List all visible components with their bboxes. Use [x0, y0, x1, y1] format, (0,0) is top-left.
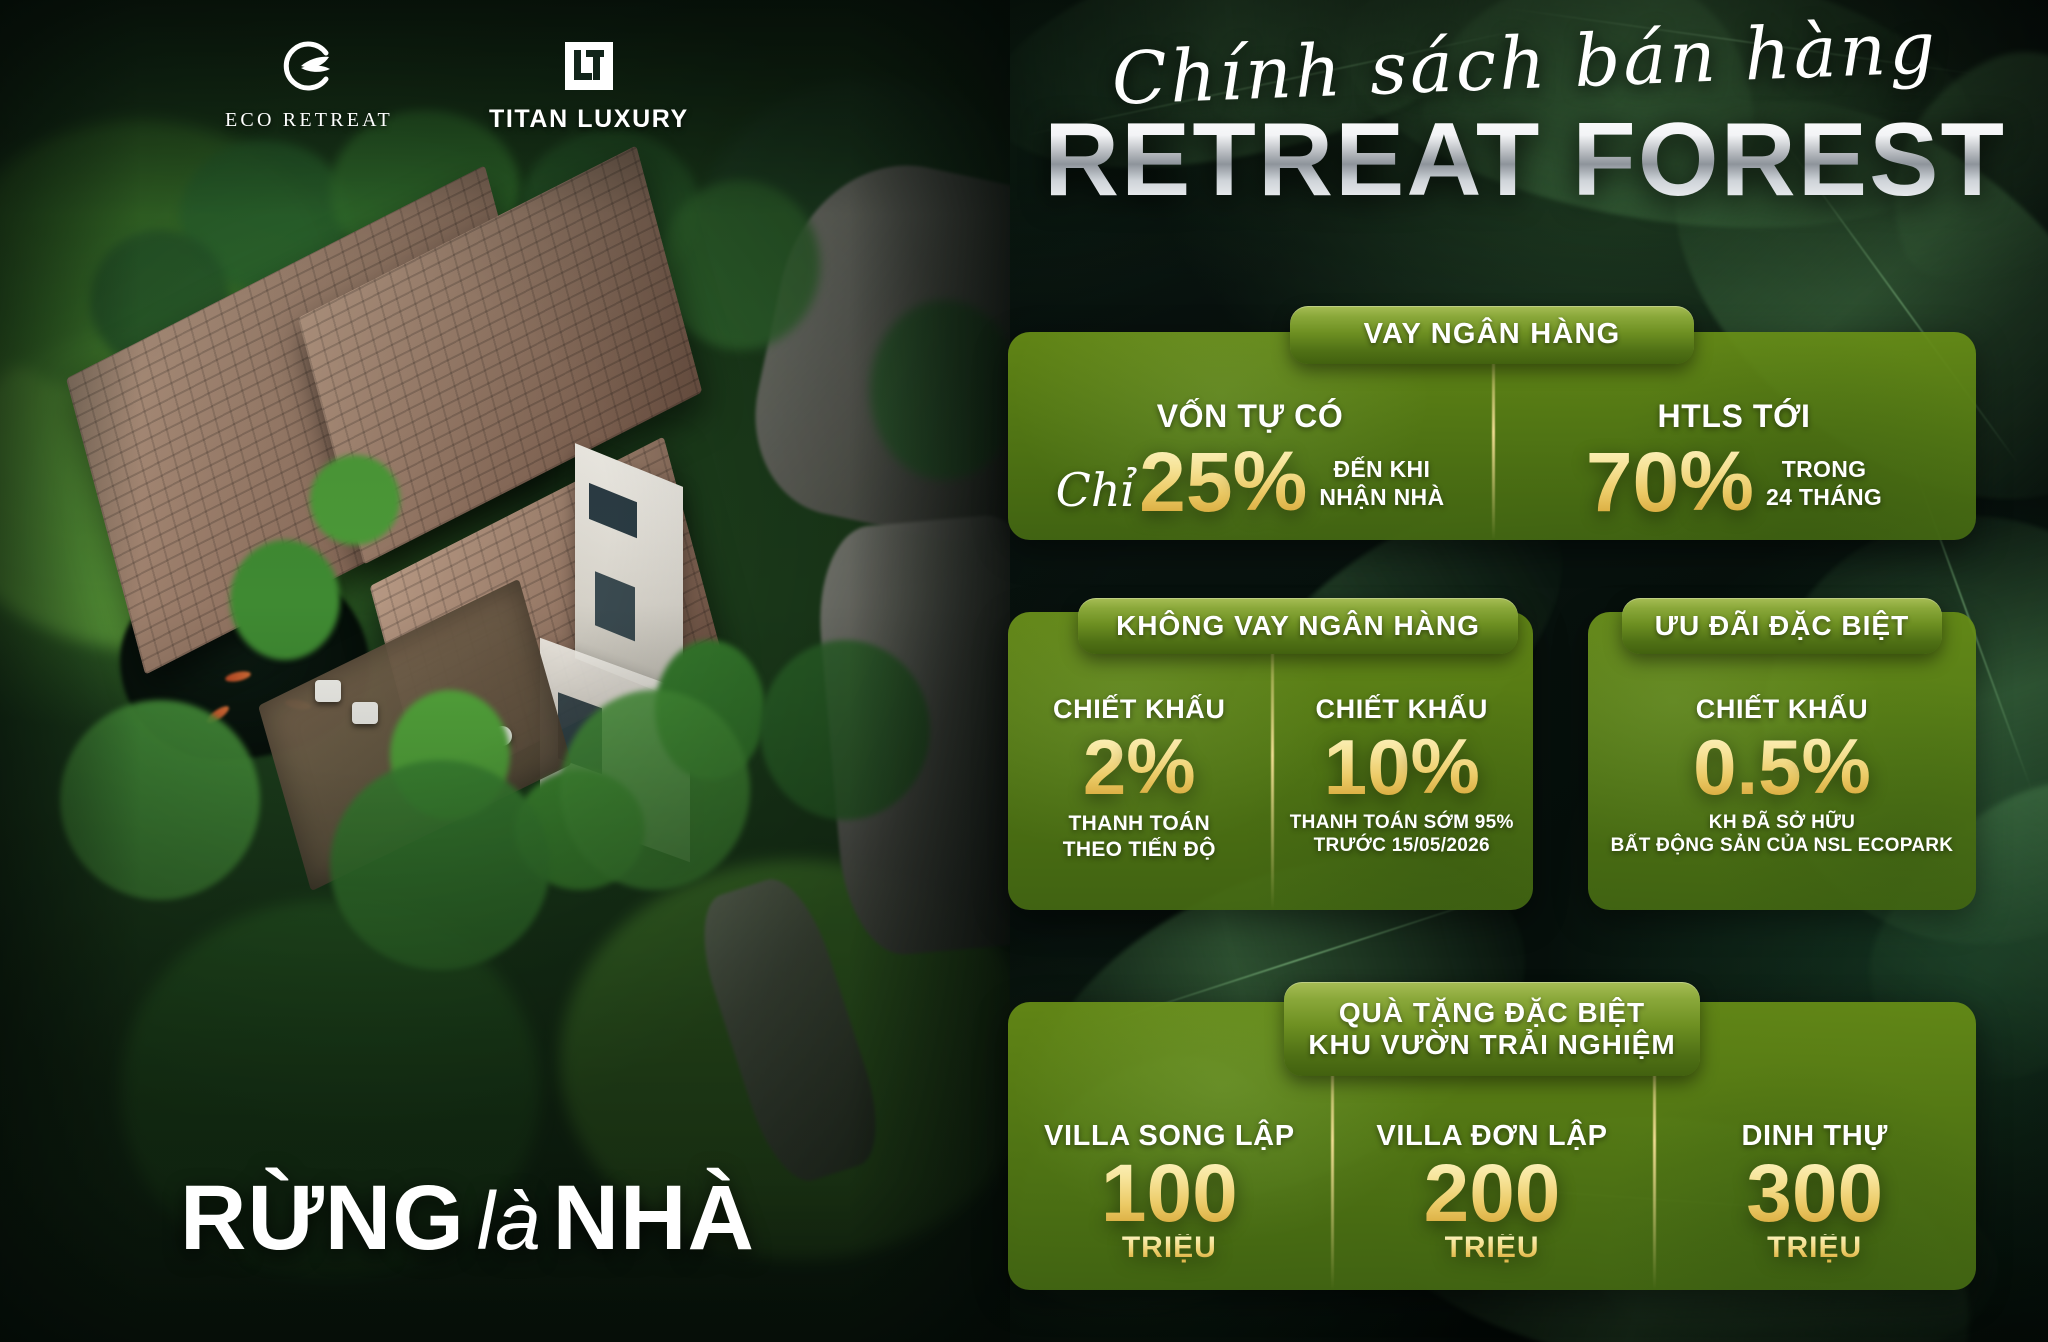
- no-bank-col1-note1: THANH TOÁN: [1069, 811, 1210, 837]
- panel-no-bank-loan-header[interactable]: KHÔNG VAY NGÂN HÀNG: [1078, 598, 1518, 654]
- bank-loan-col2-note2: 24 THÁNG: [1766, 483, 1882, 511]
- panel-special-offer-header[interactable]: ƯU ĐÃI ĐẶC BIỆT: [1622, 598, 1942, 654]
- tagline: RỪNGlàNHÀ: [180, 1166, 755, 1271]
- bank-loan-col2-unit: %: [1679, 439, 1754, 523]
- no-bank-col1-caption: CHIẾT KHẤU: [1053, 694, 1226, 725]
- bank-loan-col1-caption: VỐN TỰ CÓ: [1157, 398, 1344, 435]
- special-offer-unit: %: [1802, 727, 1871, 805]
- gift-header-line2: KHU VƯỜN TRẢI NGHIỆM: [1308, 1029, 1675, 1061]
- bank-loan-col1-value: 25: [1139, 442, 1232, 523]
- bank-loan-col1-note2: NHẬN NHÀ: [1319, 483, 1444, 511]
- eco-leaf-circle-icon: [277, 34, 341, 98]
- tagline-word-1: RỪNG: [180, 1167, 465, 1269]
- logo-row: ECO RETREAT TITAN LUXURY: [225, 34, 689, 134]
- villa-aerial-photo: [0, 0, 1010, 1342]
- special-offer-value: 0.5: [1693, 730, 1801, 805]
- special-offer-note2: BẤT ĐỘNG SẢN CỦA NSL ECOPARK: [1611, 834, 1954, 857]
- special-offer-caption: CHIẾT KHẤU: [1696, 694, 1869, 725]
- gift-col3-value: 300: [1746, 1155, 1883, 1234]
- gift-col1-unit: TRIỆU: [1122, 1234, 1217, 1263]
- special-offer-note1: KH ĐÃ SỞ HỮU: [1709, 811, 1855, 834]
- bank-loan-col2-caption: HTLS TỚI: [1658, 398, 1811, 435]
- no-bank-col1-value: 2: [1083, 730, 1126, 805]
- eco-retreat-logo: ECO RETREAT: [225, 34, 393, 132]
- poster-canvas: ECO RETREAT TITAN LUXURY Chính sách bán …: [0, 0, 2048, 1342]
- bank-loan-col1-prefix: Chỉ: [1056, 463, 1136, 517]
- bank-loan-col1-unit: %: [1233, 439, 1308, 523]
- panel-no-bank-loan: CHIẾT KHẤU 2 % THANH TOÁN THEO TIẾN ĐỘ C…: [1008, 612, 1533, 910]
- gift-col2-value: 200: [1424, 1155, 1561, 1234]
- headline-title: RETREAT FOREST: [1020, 108, 2030, 212]
- headline-block: Chính sách bán hàng RETREAT FOREST: [1020, 26, 2030, 212]
- no-bank-col2-note2: TRƯỚC 15/05/2026: [1314, 834, 1490, 857]
- no-bank-col2-unit: %: [1410, 727, 1479, 805]
- gift-header-line1: QUÀ TẶNG ĐẶC BIỆT: [1339, 997, 1645, 1029]
- titan-lt-monogram-icon: [563, 40, 615, 92]
- tagline-word-2: là: [465, 1176, 553, 1267]
- eco-retreat-wordmark: ECO RETREAT: [225, 109, 393, 132]
- panel-bank-loan-header[interactable]: VAY NGÂN HÀNG: [1290, 306, 1694, 364]
- no-bank-col1-unit: %: [1126, 727, 1195, 805]
- panel-special-offer: CHIẾT KHẤU 0.5 % KH ĐÃ SỞ HỮU BẤT ĐỘNG S…: [1588, 612, 1976, 910]
- no-bank-col2-value: 10: [1324, 730, 1411, 805]
- tagline-word-3: NHÀ: [553, 1167, 755, 1269]
- panel-special-gift-header[interactable]: QUÀ TẶNG ĐẶC BIỆT KHU VƯỜN TRẢI NGHIỆM: [1284, 982, 1700, 1076]
- no-bank-col2-caption: CHIẾT KHẤU: [1316, 694, 1489, 725]
- no-bank-col1-note2: THEO TIẾN ĐỘ: [1063, 837, 1216, 863]
- bank-loan-col1-note1: ĐẾN KHI: [1319, 455, 1444, 483]
- no-bank-col2-note1: THANH TOÁN SỚM 95%: [1290, 811, 1514, 834]
- titan-luxury-logo: TITAN LUXURY: [489, 34, 689, 134]
- gift-col3-unit: TRIỆU: [1767, 1234, 1862, 1263]
- bank-loan-col2-note1: TRONG: [1766, 455, 1882, 483]
- bank-loan-col2-value: 70: [1586, 442, 1679, 523]
- titan-luxury-wordmark: TITAN LUXURY: [489, 105, 689, 134]
- gift-col2-unit: TRIỆU: [1445, 1234, 1540, 1263]
- gift-col1-value: 100: [1101, 1155, 1238, 1234]
